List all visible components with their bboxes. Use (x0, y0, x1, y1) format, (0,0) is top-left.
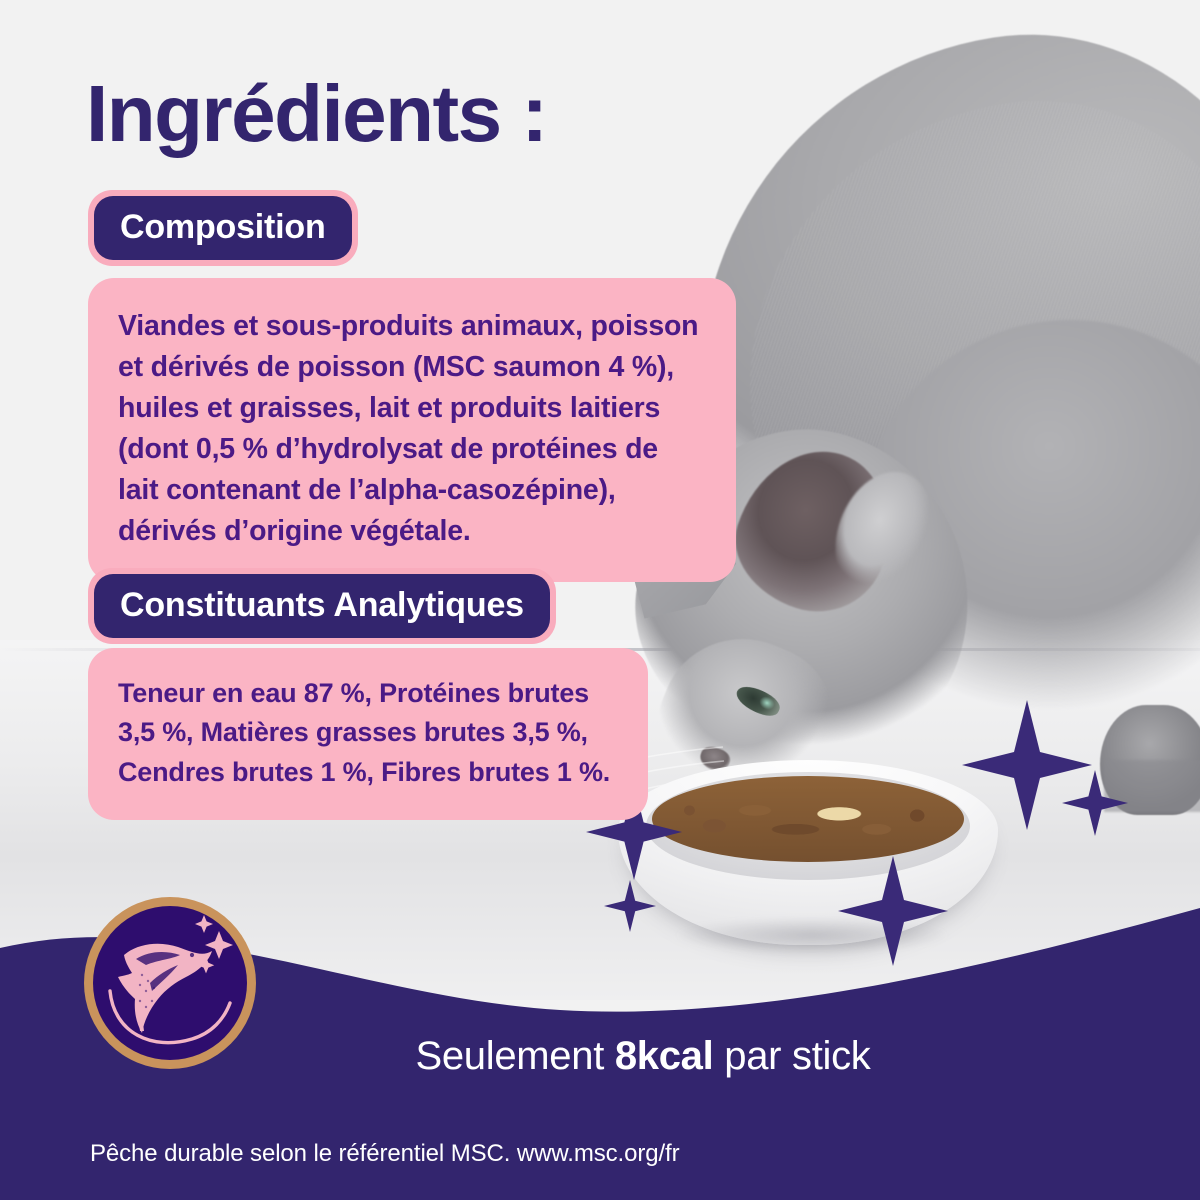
msc-disclaimer: Pêche durable selon le référentiel MSC. … (90, 1142, 680, 1166)
kcal-suffix: par stick (713, 1034, 870, 1078)
infographic-canvas: Ingrédients : Viandes et sous-produits a… (0, 0, 1200, 1200)
kcal-value: 8kcal (615, 1034, 714, 1078)
kcal-prefix: Seulement (415, 1034, 614, 1078)
analytics-tab: Constituants Analytiques (88, 568, 556, 644)
analytics-body: Teneur en eau 87 %, Protéines brutes 3,5… (118, 674, 618, 792)
analytics-panel: Teneur en eau 87 %, Protéines brutes 3,5… (88, 648, 648, 820)
composition-tab: Composition (88, 190, 358, 266)
page-title: Ingrédients : (86, 74, 547, 154)
kcal-statement: Seulement 8kcal par stick (0, 1036, 1200, 1076)
analytics-tab-label: Constituants Analytiques (94, 574, 550, 638)
composition-tab-label: Composition (94, 196, 352, 260)
composition-body: Viandes et sous-produits animaux, poisso… (118, 306, 702, 552)
composition-panel: Viandes et sous-produits animaux, poisso… (88, 278, 736, 582)
bowl-food (652, 776, 964, 862)
